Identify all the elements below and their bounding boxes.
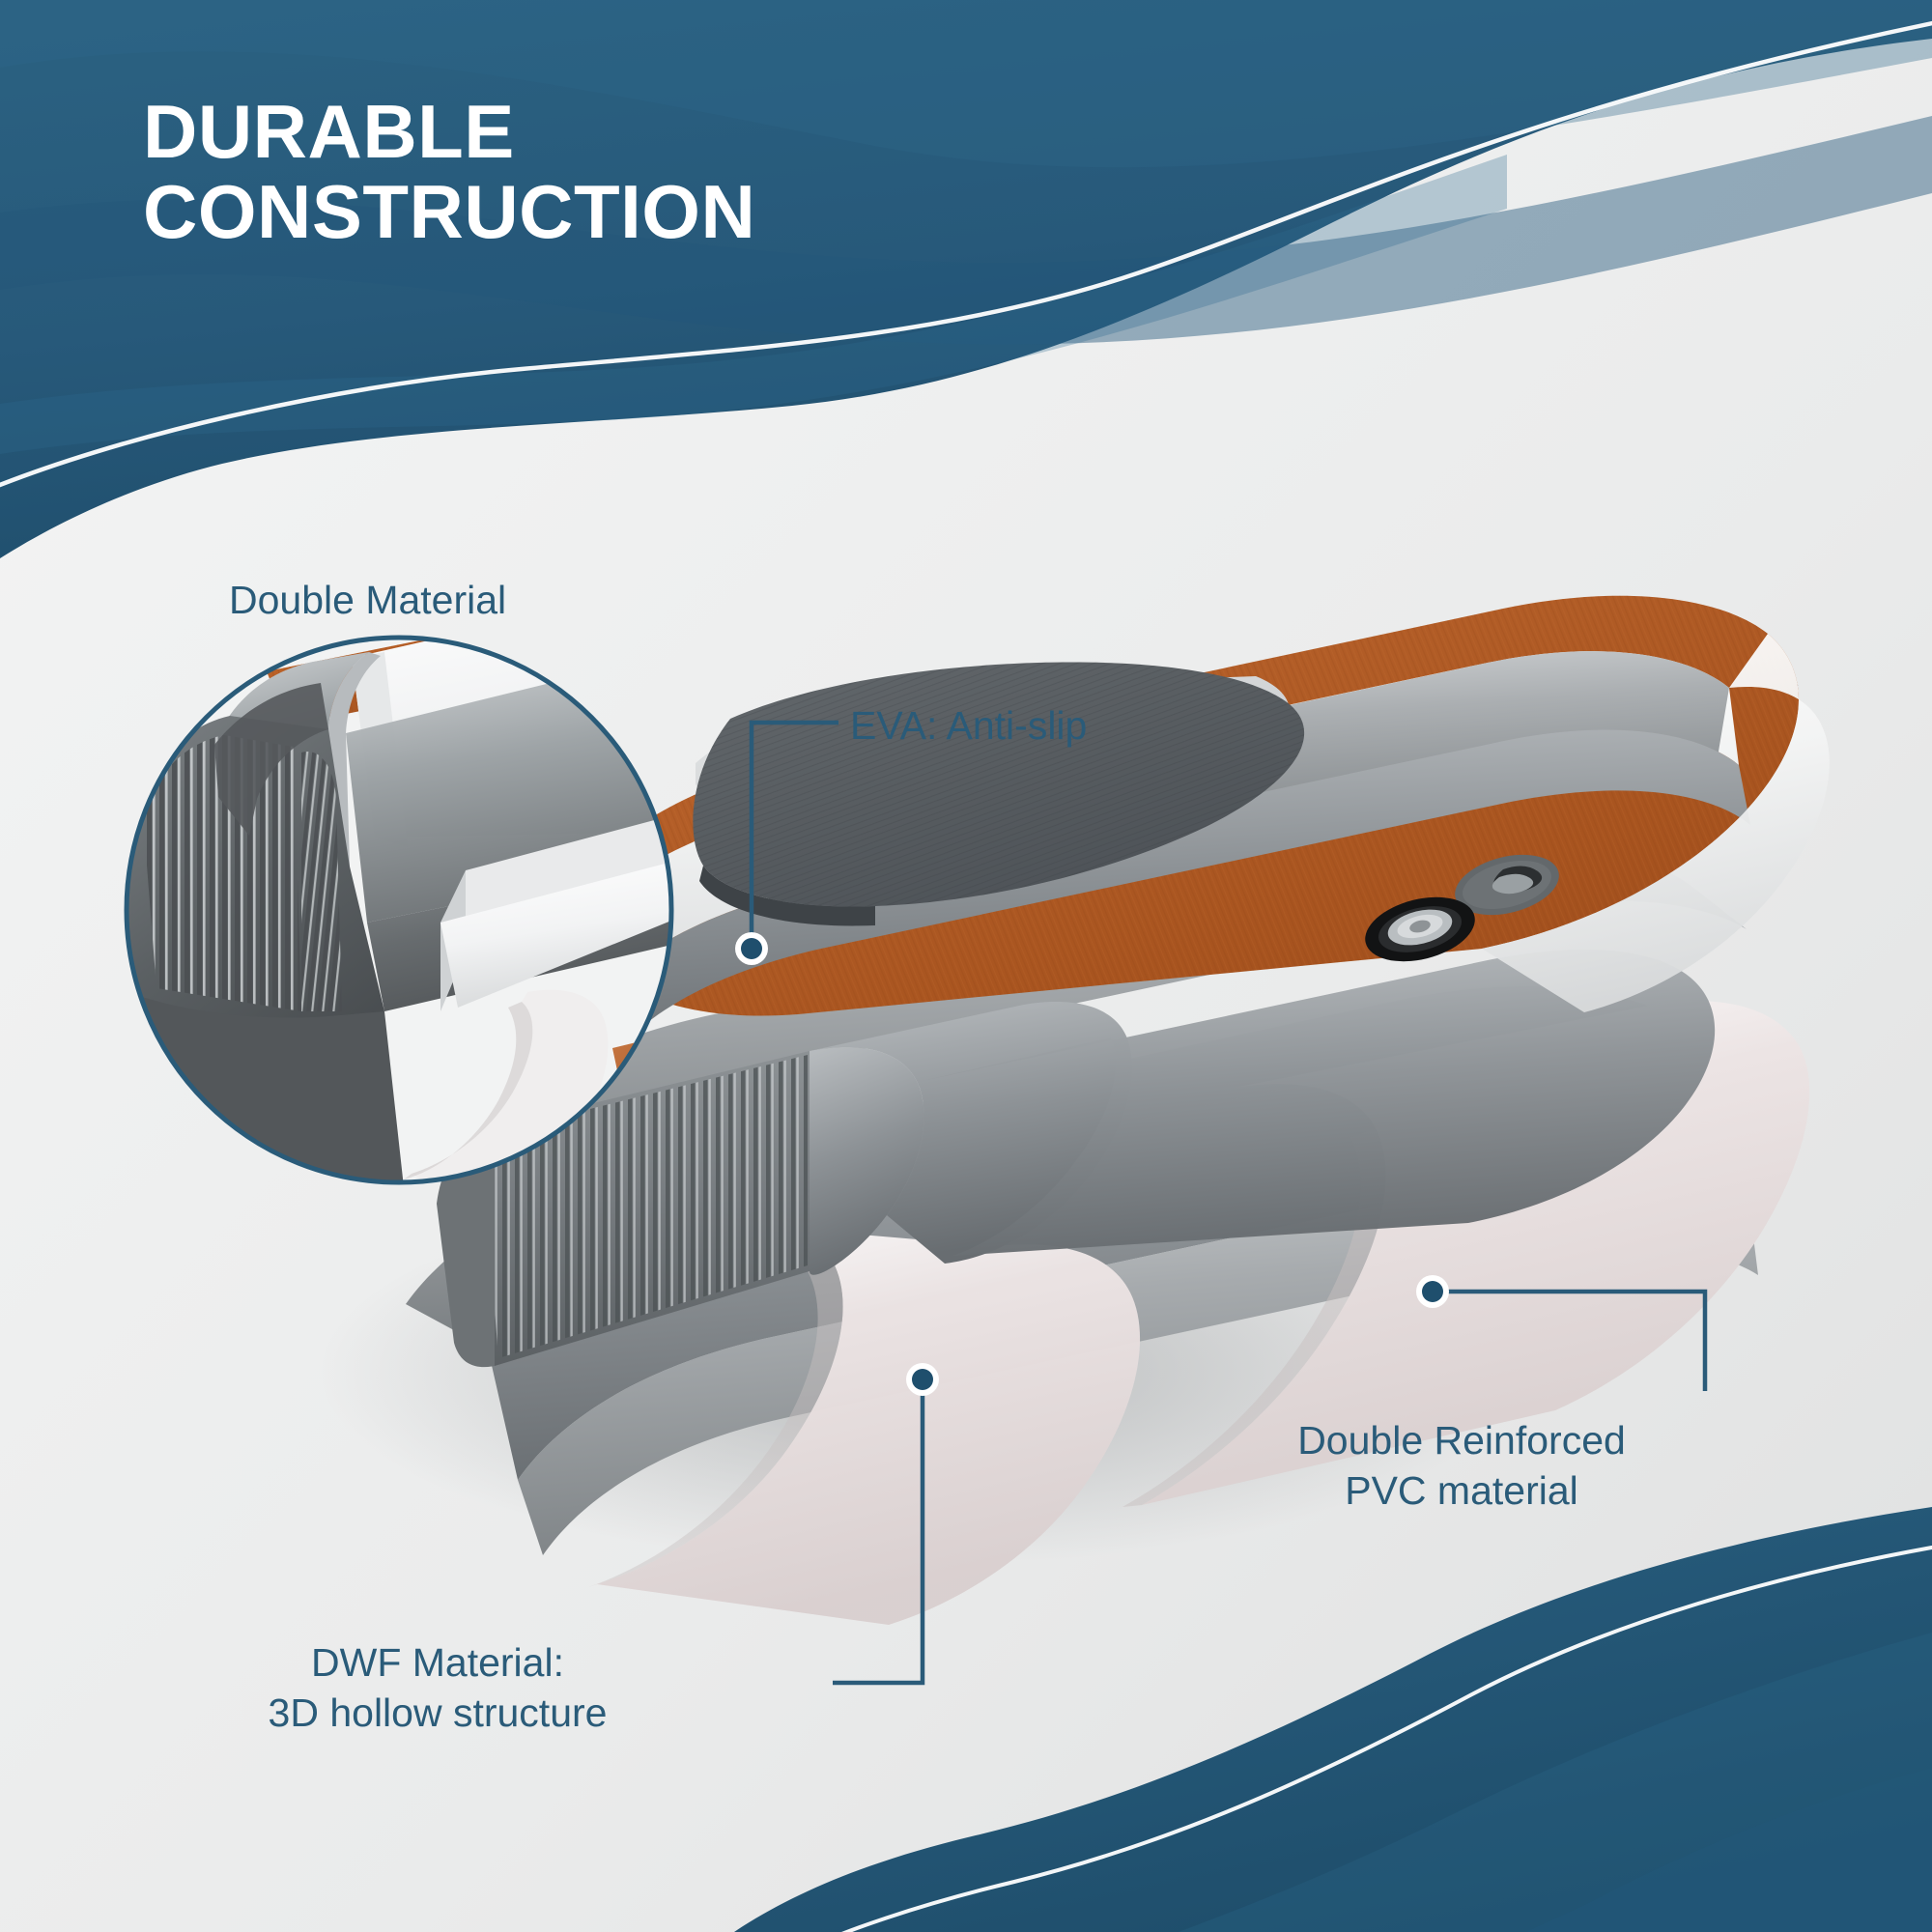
dwf-marker-dot xyxy=(906,1363,939,1396)
dwf-leader-line xyxy=(833,1379,923,1683)
eva-leader-line xyxy=(752,723,838,949)
callout-label-double-material: Double Material xyxy=(229,575,506,625)
infographic-canvas: DURABLE CONSTRUCTION xyxy=(0,0,1932,1932)
callout-label-pvc: Double Reinforced PVC material xyxy=(1297,1415,1626,1517)
eva-marker-dot xyxy=(735,932,768,965)
callout-label-eva: EVA: Anti-slip xyxy=(850,700,1087,751)
pvc-marker-dot xyxy=(1416,1275,1449,1308)
callout-label-dwf: DWF Material: 3D hollow structure xyxy=(269,1637,608,1739)
pvc-leader-line xyxy=(1433,1292,1705,1391)
